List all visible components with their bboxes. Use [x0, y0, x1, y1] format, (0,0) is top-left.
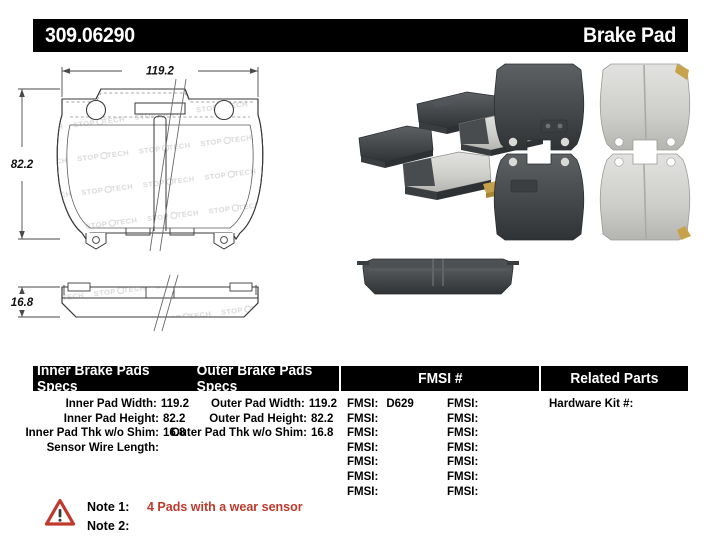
fmsi-value [378, 470, 386, 485]
fmsi-row: FMSI: [441, 470, 541, 485]
spec-row: Outer Pad Width: 119.2 [193, 397, 341, 412]
fmsi-value [378, 485, 386, 500]
fmsi-value [378, 455, 386, 470]
pad-flat-1 [494, 64, 584, 150]
fmsi-label: FMSI: [347, 441, 378, 456]
specs-table-body: Inner Pad Width: 119.2 Inner Pad Height:… [33, 391, 688, 499]
note-1: Note 1: 4 Pads with a wear sensor [87, 498, 303, 517]
spec-value: 82.2 [159, 412, 189, 427]
fmsi-label: FMSI: [447, 412, 478, 427]
fmsi-value [378, 412, 386, 427]
column-inner-specs: Inner Pad Width: 119.2 Inner Pad Height:… [33, 397, 193, 499]
fmsi-label: FMSI: [347, 412, 378, 427]
spec-value: 16.8 [307, 426, 337, 441]
width-dimension-label: 119.2 [146, 66, 175, 78]
fmsi-label: FMSI: [447, 441, 478, 456]
fmsi-value [478, 426, 486, 441]
spec-label: Inner Pad Height: [64, 412, 159, 427]
fmsi-value [478, 412, 486, 427]
spec-row: Inner Pad Height: 82.2 [33, 412, 193, 427]
fmsi-label: FMSI: [447, 470, 478, 485]
fmsi-row: FMSI: [441, 426, 541, 441]
product-type: Brake Pad [583, 25, 676, 46]
fmsi-value: D629 [378, 397, 414, 412]
fmsi-row: FMSI: [441, 485, 541, 500]
spec-row: Sensor Wire Length: [33, 441, 193, 456]
fmsi-label: FMSI: [347, 455, 378, 470]
product-photos [355, 60, 720, 340]
pad-flat-2 [600, 64, 690, 150]
note-1-text: 4 Pads with a wear sensor [141, 498, 303, 517]
fmsi-row: FMSI: [441, 441, 541, 456]
header-inner-label: Inner Brake Pads Specs [37, 363, 189, 395]
part-number: 309.06290 [45, 25, 135, 46]
fmsi-row: FMSI: [441, 455, 541, 470]
pad-flat-4 [600, 154, 691, 240]
photo-flatlay-pad-set [494, 64, 691, 240]
note-1-label: Note 1: [87, 498, 141, 517]
spec-value: 119.2 [305, 397, 337, 412]
fmsi-row: FMSI: [341, 485, 441, 500]
fmsi-row: FMSI: [341, 441, 441, 456]
pad-flat-3 [494, 154, 584, 240]
mounting-hole-right [215, 101, 234, 120]
column-outer-specs: Outer Pad Width: 119.2 Outer Pad Height:… [193, 397, 341, 499]
fmsi-label: FMSI: [347, 426, 378, 441]
header-fmsi-label: FMSI # [418, 371, 462, 387]
notes-section: Note 1: 4 Pads with a wear sensor Note 2… [45, 498, 303, 536]
header-inner-brake-pads-specs: Inner Brake Pads Specs [33, 366, 193, 391]
fmsi-subcolumn-2: FMSI: FMSI: FMSI: FMSI: [441, 397, 541, 499]
warning-triangle-icon [45, 498, 75, 526]
spec-label: Outer Pad Width: [211, 397, 305, 412]
fmsi-label: FMSI: [447, 485, 478, 500]
height-dimension-label: 82.2 [11, 159, 34, 171]
fmsi-row: FMSI: D629 [341, 397, 441, 412]
fmsi-label: FMSI: [447, 397, 478, 412]
spec-value: 82.2 [307, 412, 337, 427]
spec-value: 119.2 [157, 397, 189, 412]
header-bar: 309.06290 Brake Pad [33, 19, 688, 52]
fmsi-value [378, 426, 386, 441]
note-2-label: Note 2: [87, 517, 141, 536]
fmsi-value [478, 397, 486, 412]
spec-label: Inner Pad Thk w/o Shim: [25, 426, 159, 441]
fmsi-row: FMSI: [341, 455, 441, 470]
note-lines: Note 1: 4 Pads with a wear sensor Note 2… [87, 498, 303, 536]
fmsi-label: FMSI: [347, 397, 378, 412]
specs-table: Inner Brake Pads Specs Outer Brake Pads … [33, 366, 688, 499]
mounting-hole-left [87, 101, 106, 120]
spec-label: Outer Pad Thk w/o Shim: [171, 426, 307, 441]
technical-drawing: STOP TECH 119.2 [0, 55, 360, 355]
fmsi-value [478, 470, 486, 485]
note-2: Note 2: [87, 517, 303, 536]
fmsi-row: FMSI: [441, 412, 541, 427]
note-2-text [141, 517, 147, 536]
pad-side-view [55, 283, 270, 323]
related-part-row: Hardware Kit #: [541, 397, 688, 412]
fmsi-label: FMSI: [447, 455, 478, 470]
spec-row: Inner Pad Width: 119.2 [33, 397, 193, 412]
fmsi-row: FMSI: [341, 426, 441, 441]
fmsi-label: FMSI: [347, 485, 378, 500]
spec-value [159, 441, 189, 456]
spec-label: Inner Pad Width: [66, 397, 157, 412]
spec-row: Inner Pad Thk w/o Shim: 16.8 [33, 426, 193, 441]
spec-label: Sensor Wire Length: [47, 441, 159, 456]
fmsi-value [478, 455, 486, 470]
spec-row: Outer Pad Height: 82.2 [193, 412, 341, 427]
column-fmsi: FMSI: D629 FMSI: FMSI: FMSI: [341, 397, 541, 499]
header-outer-brake-pads-specs: Outer Brake Pads Specs [193, 366, 341, 391]
spec-label: Outer Pad Height: [209, 412, 307, 427]
fmsi-label: FMSI: [347, 470, 378, 485]
fmsi-row: FMSI: [341, 412, 441, 427]
fmsi-value [478, 441, 486, 456]
spec-row: Outer Pad Thk w/o Shim: 16.8 [193, 426, 341, 441]
specs-table-header-row: Inner Brake Pads Specs Outer Brake Pads … [33, 366, 688, 391]
fmsi-row: FMSI: [341, 470, 441, 485]
fmsi-row: FMSI: [441, 397, 541, 412]
column-related-parts: Hardware Kit #: [541, 397, 688, 499]
fmsi-label: FMSI: [447, 426, 478, 441]
fmsi-subcolumn-1: FMSI: D629 FMSI: FMSI: FMSI: [341, 397, 441, 499]
header-related-parts: Related Parts [541, 366, 688, 391]
fmsi-value [478, 485, 486, 500]
photo-edge-view-pad [357, 259, 519, 294]
related-part-label: Hardware Kit #: [549, 398, 633, 410]
spec-sheet-page: 309.06290 Brake Pad STOP TECH [0, 0, 720, 557]
thickness-dimension-label: 16.8 [11, 297, 34, 309]
header-outer-label: Outer Brake Pads Specs [197, 363, 336, 395]
header-fmsi: FMSI # [341, 366, 541, 391]
header-related-label: Related Parts [570, 371, 658, 387]
fmsi-value [378, 441, 386, 456]
